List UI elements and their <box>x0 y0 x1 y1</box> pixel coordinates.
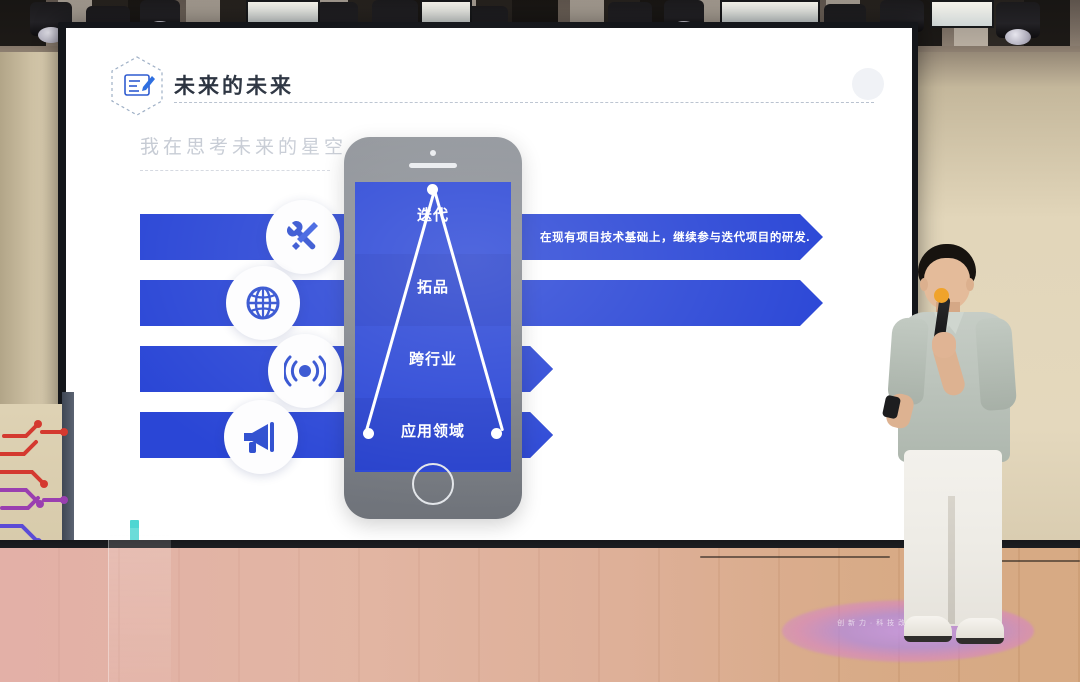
phone-row-label: 拓品 <box>355 276 511 297</box>
title-divider <box>174 102 874 103</box>
phone-row-label: 迭代 <box>355 204 511 225</box>
signal-icon <box>268 334 342 408</box>
microphone-windscreen <box>934 288 949 303</box>
phone-camera <box>430 150 436 156</box>
presenter-hand <box>932 332 956 358</box>
presenter-shoe <box>956 618 1004 644</box>
presenter-sleeve <box>887 317 929 405</box>
slide-subtitle: 我在思考未来的星空 <box>140 132 347 159</box>
presenter-shoe <box>904 616 952 642</box>
tools-icon <box>266 200 340 274</box>
glass-partition <box>108 528 171 682</box>
presenter <box>880 244 1050 650</box>
presenter-sleeve <box>975 317 1017 411</box>
arrow-band-label: 在现有项目技术基础上，继续参与迭代项目的研发. <box>540 214 810 260</box>
presenter-ear <box>920 278 928 291</box>
presenter-leg-separation <box>948 496 955 624</box>
subtitle-divider <box>140 170 330 171</box>
ceiling-panel-light <box>720 0 820 24</box>
globe-icon <box>226 266 300 340</box>
decorative-circle <box>852 68 884 100</box>
phone-earpiece <box>409 163 457 168</box>
slide-canvas: 未来的未来 我在思考未来的星空 在现有项目技术基础上，继续参与迭代项目的研发. <box>66 28 912 540</box>
slide-title: 未来的未来 <box>174 70 294 100</box>
presenter-ear <box>966 278 974 291</box>
phone-row-label: 应用领域 <box>355 420 511 441</box>
document-edit-icon <box>109 55 165 117</box>
megaphone-icon <box>224 400 298 474</box>
stage-lamp <box>996 2 1040 38</box>
phone-home-button <box>412 463 454 505</box>
phone-display: 迭代 拓品 跨行业 应用领域 <box>355 182 511 472</box>
smartphone-mockup: 迭代 拓品 跨行业 应用领域 <box>344 137 522 519</box>
phone-row-label: 跨行业 <box>355 348 511 369</box>
ceiling-panel-light <box>930 0 994 28</box>
presentation-screen: 未来的未来 我在思考未来的星空 在现有项目技术基础上，继续参与迭代项目的研发. <box>66 28 912 540</box>
conference-stage-scene: 未来的未来 我在思考未来的星空 在现有项目技术基础上，继续参与迭代项目的研发. <box>0 0 1080 682</box>
v-node-top <box>427 184 438 195</box>
floor-cable <box>700 556 890 558</box>
